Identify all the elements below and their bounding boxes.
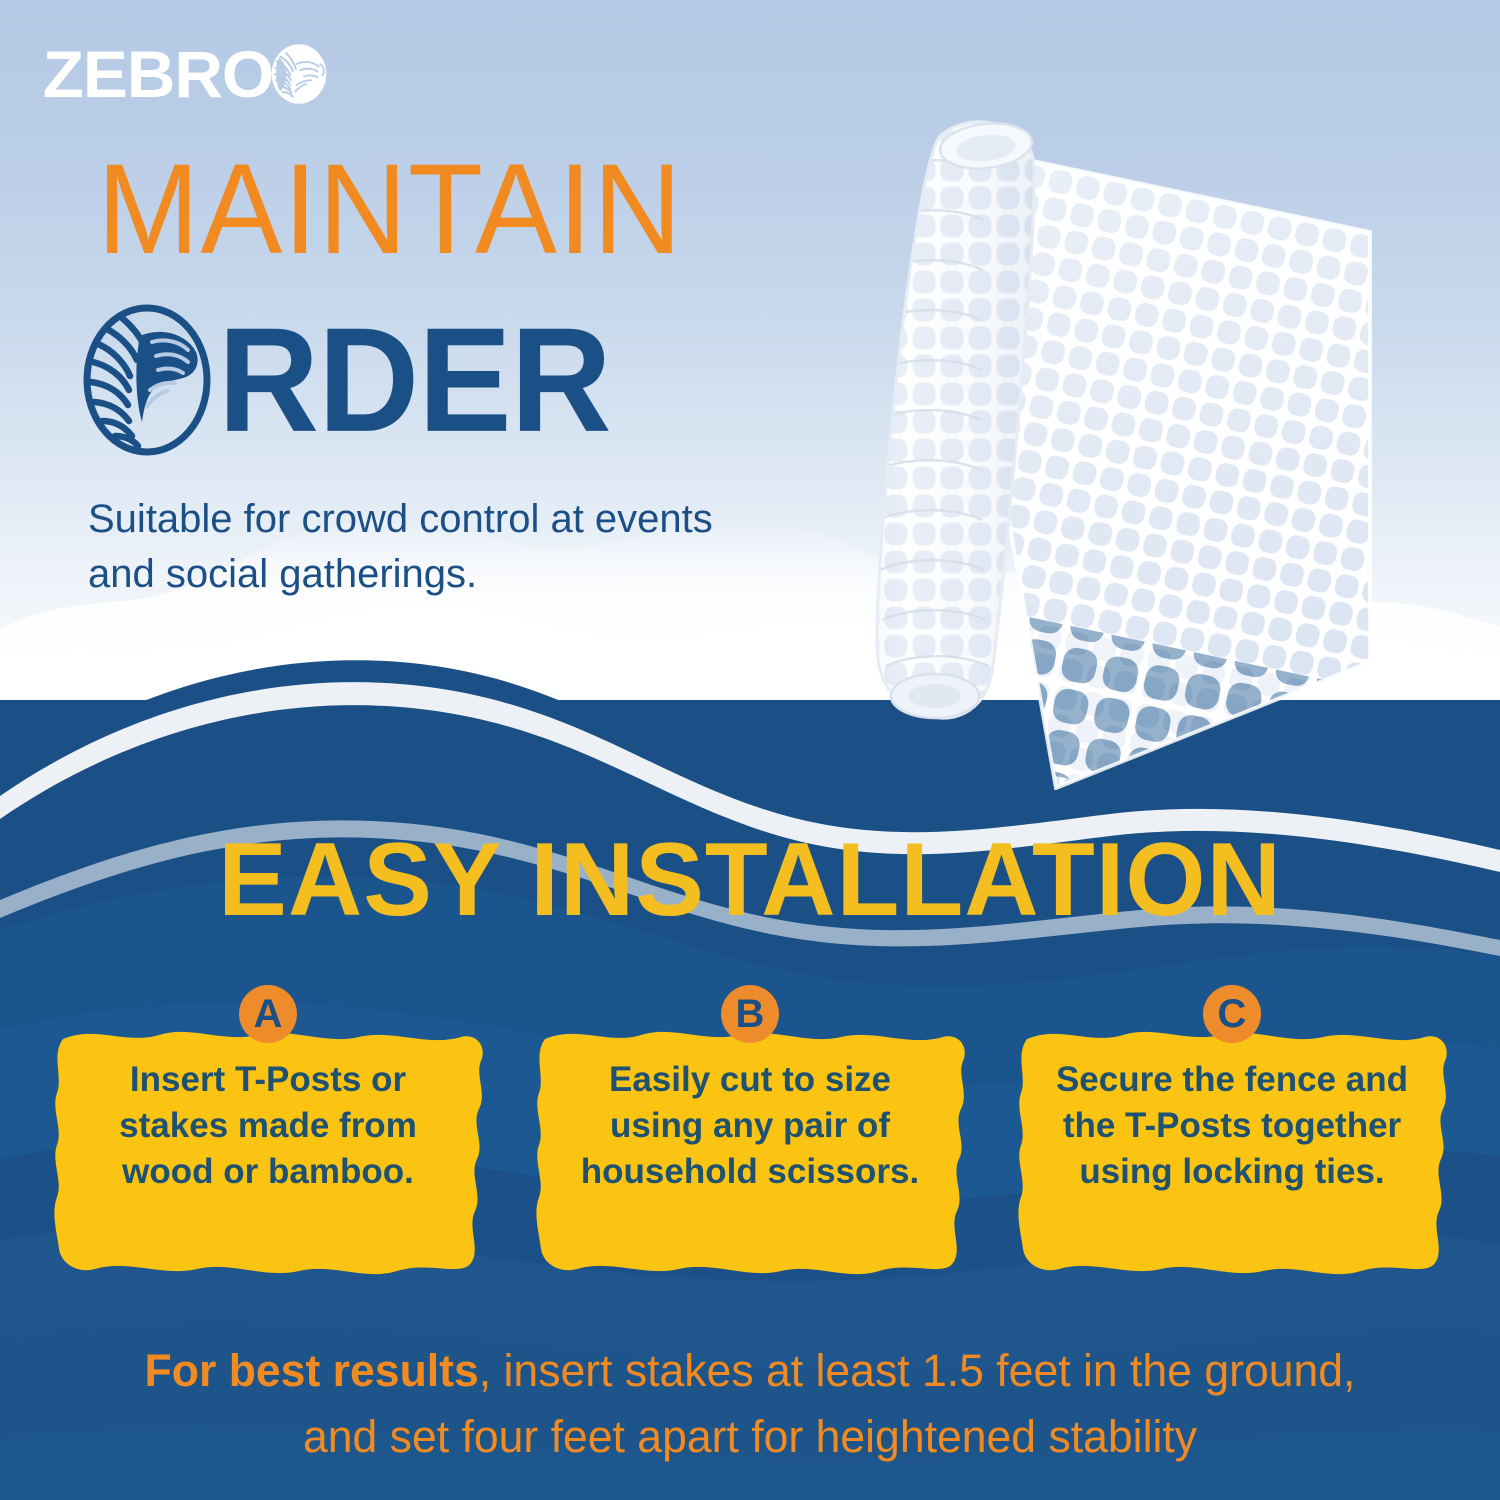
step-text-a: Insert T-Posts or stakes made from wood … xyxy=(79,1057,457,1195)
step-badge-letter: A xyxy=(254,994,283,1034)
zebra-head-oval-icon xyxy=(82,304,212,456)
product-image-mesh-fence-roll xyxy=(770,100,1410,790)
zebra-head-circle-icon xyxy=(268,43,330,105)
infographic-canvas: ZEBRO xyxy=(0,0,1500,1500)
step-text-c: Secure the fence and the T-Posts togethe… xyxy=(1043,1057,1421,1195)
brand-wordmark: ZEBRO xyxy=(43,41,274,107)
footer-note: For best results, insert stakes at least… xyxy=(8,1338,1493,1470)
headline-order-row: RDER xyxy=(82,300,611,460)
step-badge-b: B xyxy=(721,985,779,1043)
footer-note-lead: For best results xyxy=(145,1345,479,1396)
headline-order: RDER xyxy=(218,306,611,454)
headline-maintain: MAINTAIN xyxy=(97,146,683,274)
section-title-easy-installation: EASY INSTALLATION xyxy=(8,828,1493,932)
step-badge-c: C xyxy=(1203,985,1261,1043)
installation-steps: A Insert T-Posts or stakes made from woo… xyxy=(0,985,1500,1295)
brand-logo: ZEBRO xyxy=(45,38,330,110)
install-step-card-b[interactable]: B Easily cut to size using any pair of h… xyxy=(531,985,969,1285)
step-text-b: Easily cut to size using any pair of hou… xyxy=(561,1057,939,1195)
hero-subhead: Suitable for crowd control at events and… xyxy=(88,492,728,602)
install-step-card-c[interactable]: C Secure the fence and the T-Posts toget… xyxy=(1013,985,1451,1285)
install-step-card-a[interactable]: A Insert T-Posts or stakes made from woo… xyxy=(49,985,487,1285)
step-badge-letter: B xyxy=(736,994,765,1034)
step-badge-letter: C xyxy=(1218,994,1247,1034)
step-badge-a: A xyxy=(239,985,297,1043)
